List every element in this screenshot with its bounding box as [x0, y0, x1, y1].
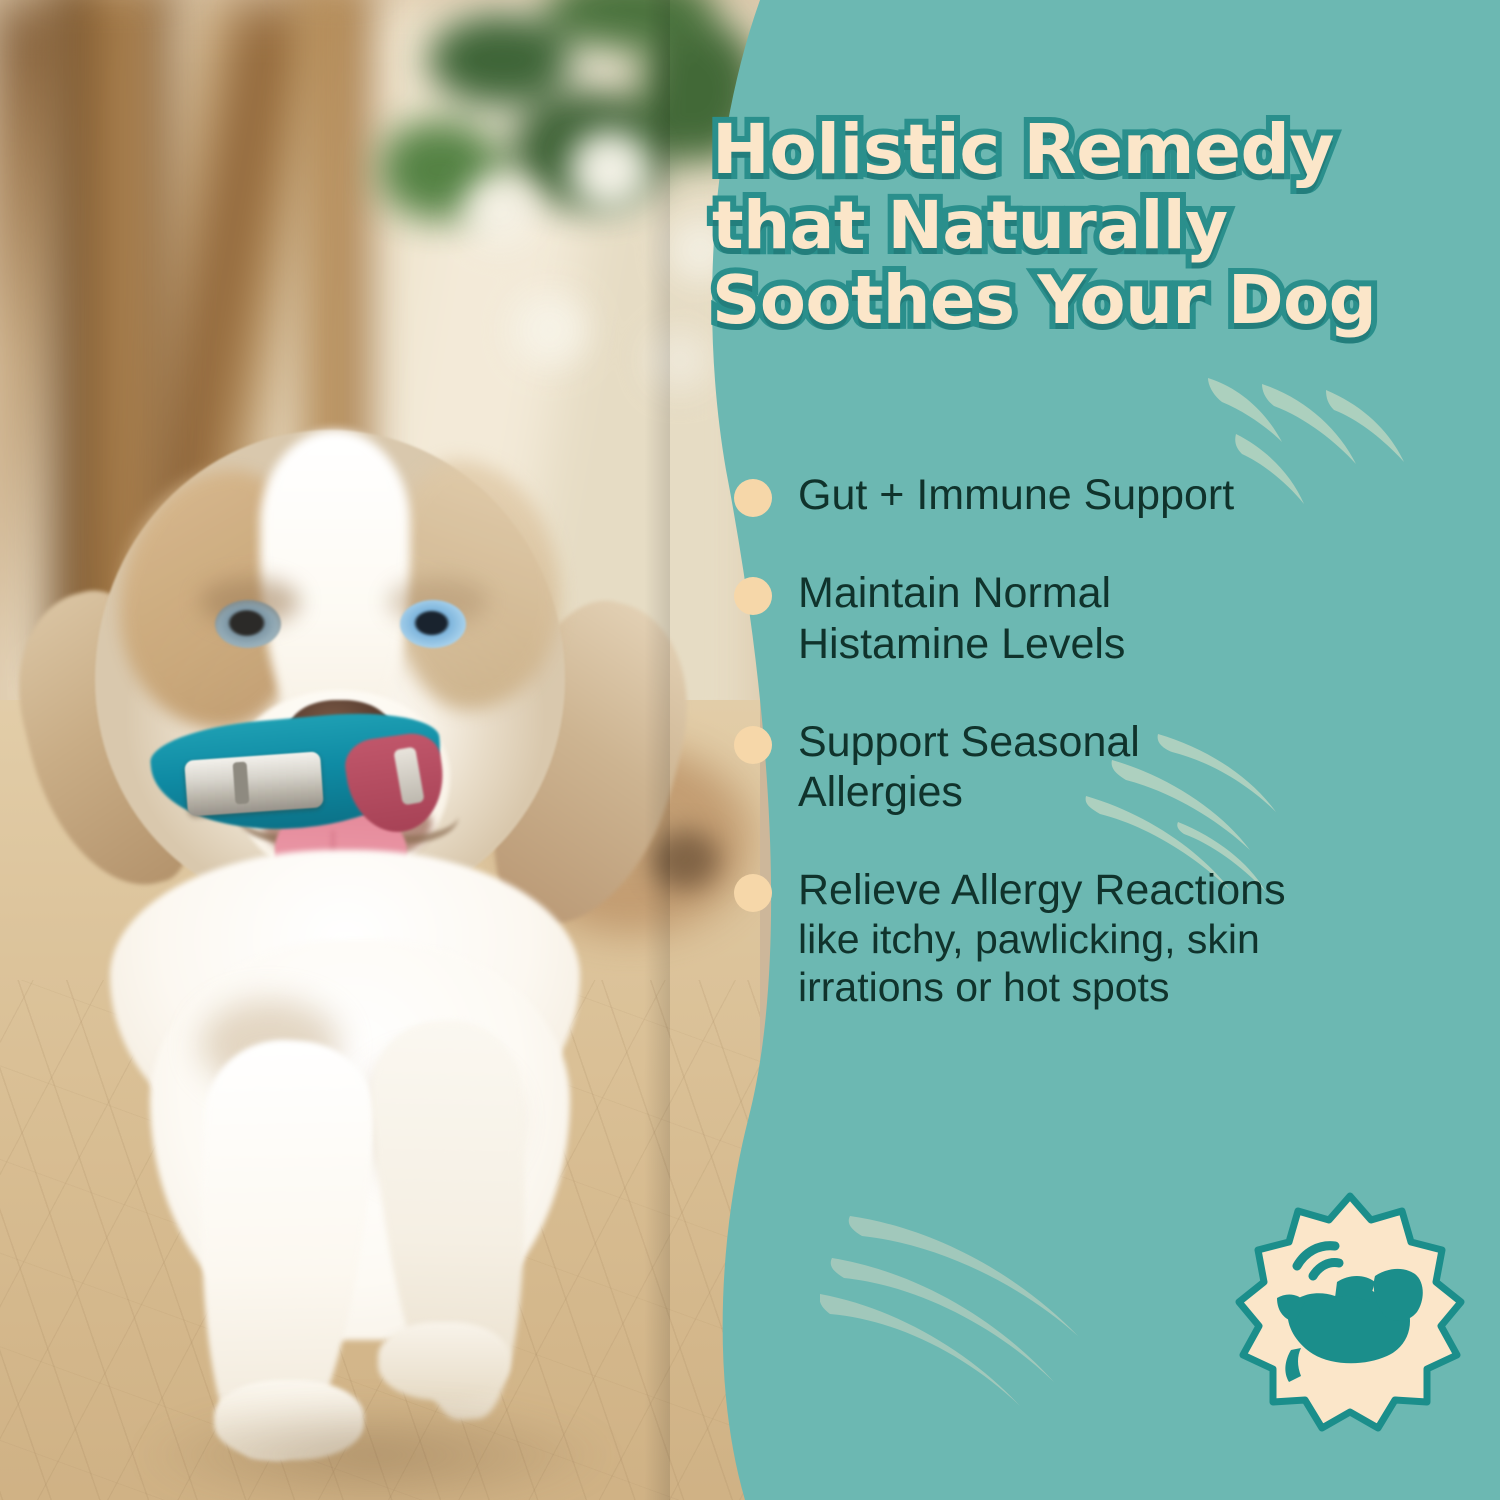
page-title: Holistic Remedy that Naturally Soothes Y… — [712, 112, 1500, 338]
benefit-list: Gut + Immune Support Maintain Normal His… — [734, 470, 1464, 1060]
headline-line-3: Soothes Your Dog — [712, 263, 1500, 338]
benefit-text: Maintain Normal Histamine Levels — [798, 568, 1125, 669]
collar-buckle-prong — [233, 762, 250, 805]
puppy-photo — [0, 0, 760, 1500]
list-item: Support Seasonal Allergies — [734, 717, 1464, 818]
benefit-line: Relieve Allergy Reactions — [798, 865, 1286, 915]
puppy-paw-right — [378, 1322, 510, 1400]
puppy-subject — [0, 0, 760, 1500]
list-item: Maintain Normal Histamine Levels — [734, 568, 1464, 669]
benefit-line: Gut + Immune Support — [798, 470, 1234, 520]
benefit-line: like itchy, pawlicking, skin — [798, 916, 1286, 964]
bullet-dot-icon — [734, 479, 772, 517]
bullet-dot-icon — [734, 577, 772, 615]
headline-line-2: that Naturally — [712, 189, 1500, 263]
headline-line-1: Holistic Remedy — [712, 112, 1500, 189]
bullet-dot-icon — [734, 726, 772, 764]
benefit-text: Gut + Immune Support — [798, 470, 1234, 520]
puppy-eye-right-blue — [400, 600, 466, 648]
benefit-line: Maintain Normal — [798, 568, 1125, 618]
product-banner: Holistic Remedy that Naturally Soothes Y… — [0, 0, 1500, 1500]
benefit-line: irrations or hot spots — [798, 964, 1286, 1012]
bullet-dot-icon — [734, 874, 772, 912]
benefit-line: Allergies — [798, 767, 1140, 817]
benefit-text: Relieve Allergy Reactions like itchy, pa… — [798, 865, 1286, 1011]
scratching-dog-badge — [1225, 1190, 1475, 1440]
badge-graphic — [1225, 1190, 1475, 1440]
puppy-floor-shadow — [140, 1400, 610, 1500]
collar-buckle — [184, 751, 324, 816]
benefit-line: Support Seasonal — [798, 717, 1140, 767]
list-item: Relieve Allergy Reactions like itchy, pa… — [734, 865, 1464, 1011]
puppy-eye-left — [215, 600, 281, 648]
list-item: Gut + Immune Support — [734, 470, 1464, 520]
benefit-line: Histamine Levels — [798, 619, 1125, 669]
benefit-text: Support Seasonal Allergies — [798, 717, 1140, 818]
